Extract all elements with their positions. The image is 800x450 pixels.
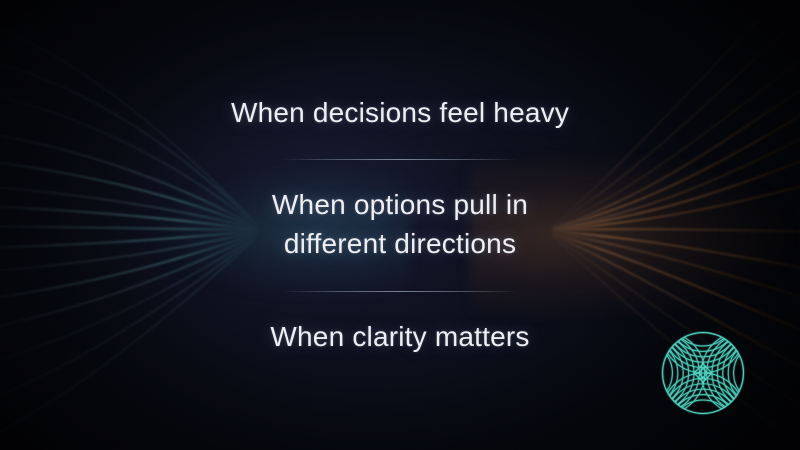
divider-1 — [282, 159, 518, 160]
divider-2 — [282, 291, 518, 292]
circular-mandala-icon — [658, 328, 748, 418]
headline-line-3: When clarity matters — [270, 318, 529, 357]
brand-logo — [658, 328, 748, 418]
slide-canvas: When decisions feel heavy When options p… — [0, 0, 800, 450]
headline-line-2: When options pull in different direction… — [272, 186, 528, 263]
headline-line-1: When decisions feel heavy — [231, 94, 569, 133]
